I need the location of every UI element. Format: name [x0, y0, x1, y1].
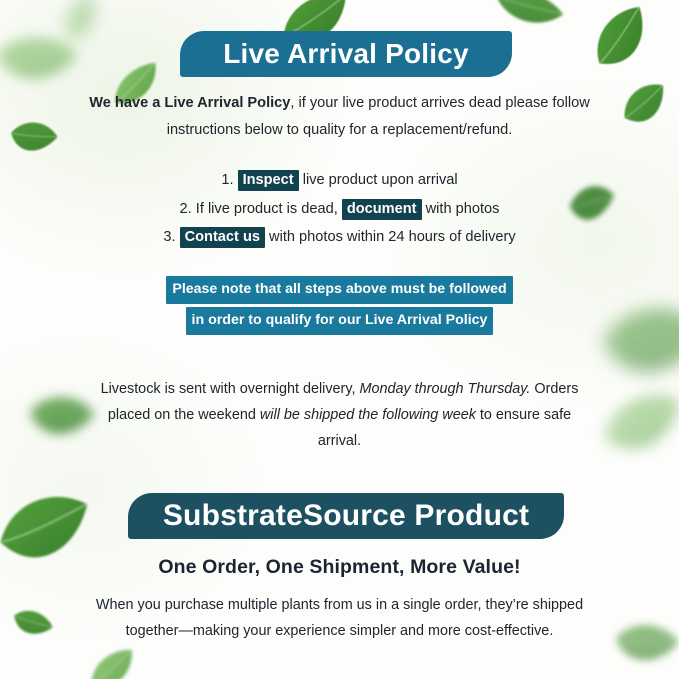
content-layer: Live Arrival Policy We have a Live Arriv…	[0, 0, 679, 679]
shipping-line-1-italic: Monday through Thursday.	[359, 381, 530, 397]
policy-steps-list: 1. Inspect live product upon arrival 2. …	[0, 166, 679, 252]
substratesource-product-banner-label: SubstrateSource Product	[163, 499, 529, 533]
product-description-paragraph: When you purchase multiple plants from u…	[0, 593, 679, 644]
policy-note-line-2: in order to qualify for our Live Arrival…	[186, 307, 494, 335]
policy-step-1-after: live product upon arrival	[303, 172, 458, 188]
policy-intro-bold-lead: We have a Live Arrival Policy	[89, 95, 290, 111]
policy-note-line-1: Please note that all steps above must be…	[166, 276, 512, 304]
product-tagline: One Order, One Shipment, More Value!	[0, 556, 679, 579]
policy-note-row-1: Please note that all steps above must be…	[0, 276, 679, 307]
policy-step-2: 2. If live product is dead, document wit…	[0, 195, 679, 224]
live-arrival-policy-banner-label: Live Arrival Policy	[223, 38, 469, 70]
policy-infographic: Live Arrival Policy We have a Live Arriv…	[0, 0, 679, 679]
substratesource-product-banner: SubstrateSource Product	[128, 493, 564, 539]
policy-step-2-highlight: document	[342, 199, 422, 220]
policy-step-1-number: 1.	[221, 172, 233, 188]
policy-step-2-after: with photos	[426, 201, 500, 217]
policy-note-row-2: in order to qualify for our Live Arrival…	[0, 307, 679, 338]
policy-step-2-before: If live product is dead,	[196, 201, 338, 217]
policy-step-3-after: with photos within 24 hours of delivery	[269, 229, 516, 245]
policy-step-3-highlight: Contact us	[180, 227, 265, 248]
shipping-line-2-italic: will be shipped the following week	[260, 407, 476, 423]
policy-step-1-highlight: Inspect	[238, 170, 299, 191]
policy-intro-paragraph: We have a Live Arrival Policy, if your l…	[0, 90, 679, 144]
policy-note-block: Please note that all steps above must be…	[0, 276, 679, 338]
policy-step-2-number: 2.	[180, 201, 192, 217]
policy-step-3: 3. Contact us with photos within 24 hour…	[0, 223, 679, 252]
shipping-line-1-plain: Livestock is sent with overnight deliver…	[101, 381, 356, 397]
policy-step-1: 1. Inspect live product upon arrival	[0, 166, 679, 195]
live-arrival-policy-banner: Live Arrival Policy	[180, 31, 512, 77]
shipping-schedule-paragraph: Livestock is sent with overnight deliver…	[0, 376, 679, 454]
policy-step-3-number: 3.	[163, 229, 175, 245]
